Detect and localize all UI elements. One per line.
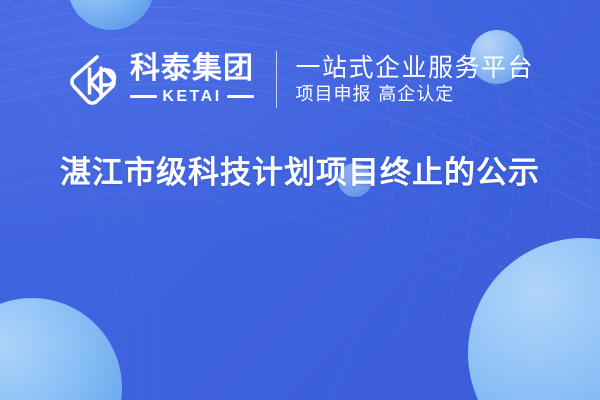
- company-logo: 科泰集团 KETAI: [66, 51, 254, 107]
- announcement-banner: 科泰集团 KETAI 一站式企业服务平台 项目申报 高企认定 湛江市级科技计划项…: [0, 0, 600, 400]
- slogan-sub-text: 项目申报 高企认定: [295, 85, 534, 105]
- slogan-main-text: 一站式企业服务平台: [295, 54, 534, 81]
- logo-company-name-cn: 科泰集团: [130, 54, 254, 84]
- logo-dash-left: [130, 95, 157, 98]
- banner-header: 科泰集团 KETAI 一站式企业服务平台 项目申报 高企认定: [0, 40, 600, 118]
- slogan-block: 一站式企业服务平台 项目申报 高企认定: [295, 54, 534, 105]
- header-divider: [276, 51, 278, 108]
- logo-dash-right: [227, 95, 254, 98]
- logo-company-name-en: KETAI: [162, 89, 221, 105]
- logo-wordmark: 科泰集团 KETAI: [130, 54, 254, 105]
- logo-company-name-en-row: KETAI: [130, 89, 254, 105]
- page-title: 湛江市级科技计划项目终止的公示: [0, 155, 600, 192]
- ketai-diamond-monogram-icon: [66, 51, 118, 107]
